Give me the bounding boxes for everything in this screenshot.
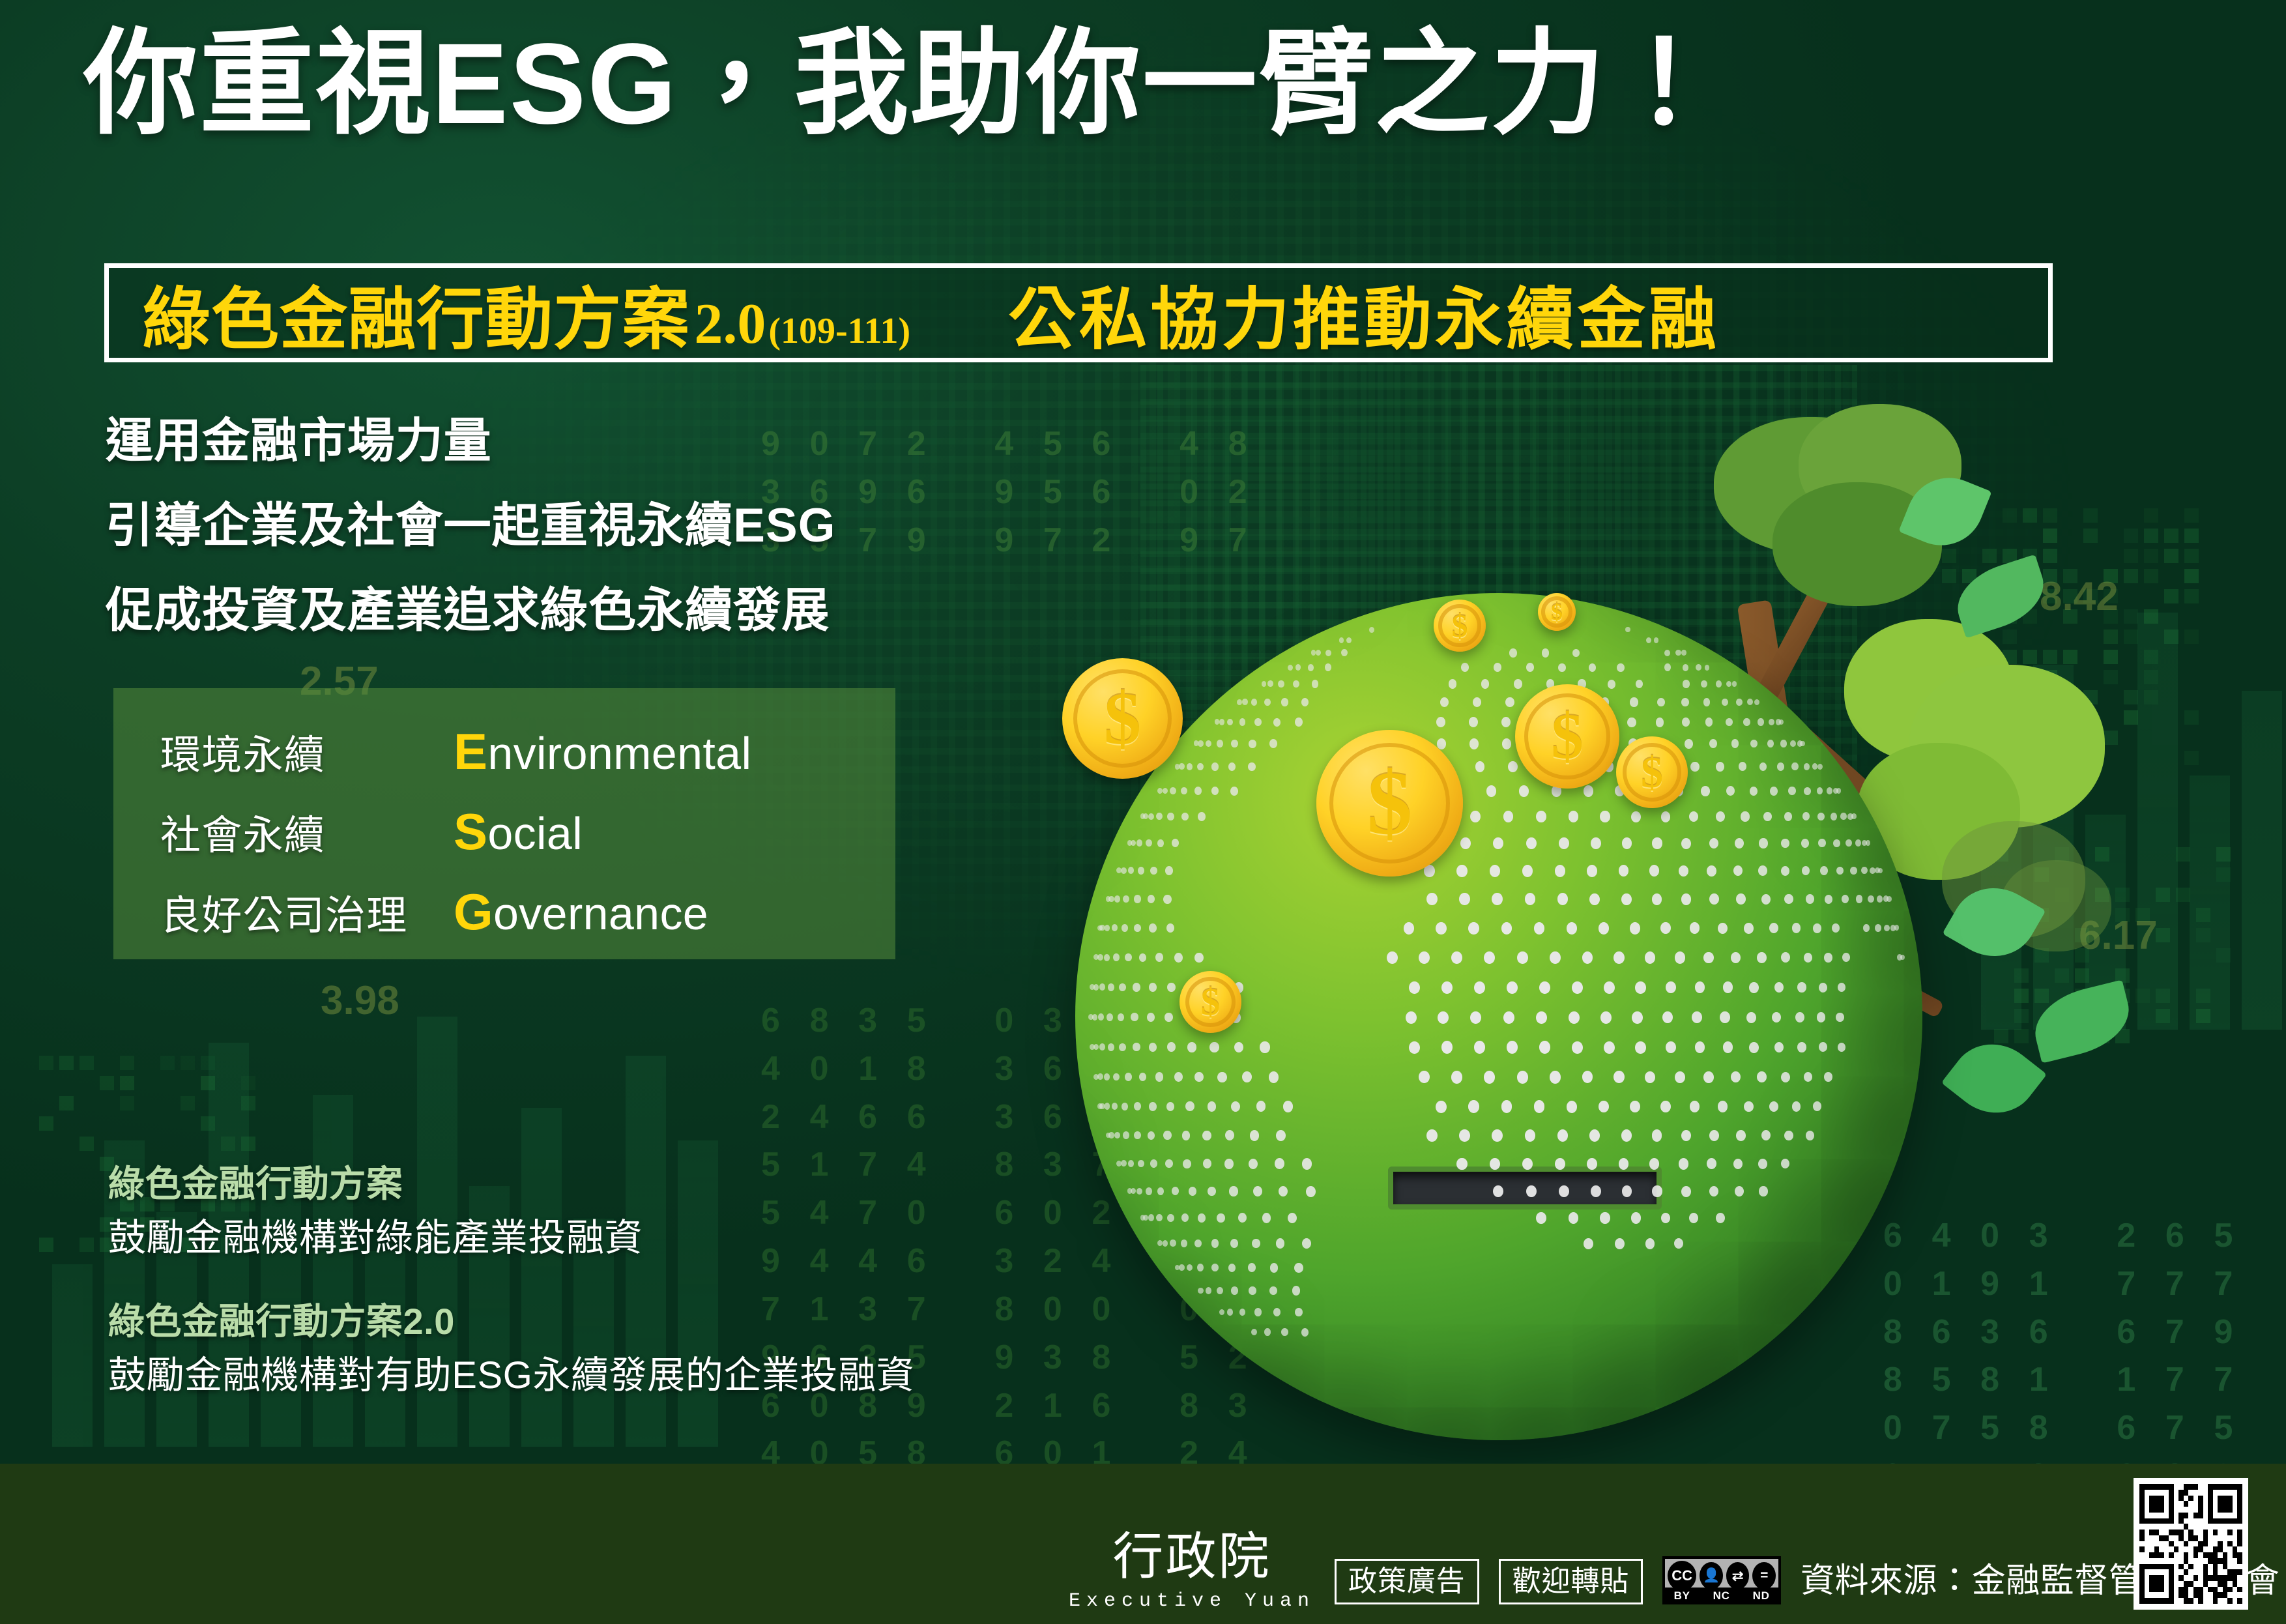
globe-dot bbox=[1341, 649, 1348, 656]
qr-cell bbox=[2237, 1507, 2242, 1513]
qr-cell bbox=[2145, 1575, 2150, 1581]
globe-dot bbox=[1661, 1213, 1671, 1224]
qr-cell bbox=[2164, 1513, 2169, 1518]
qr-cell bbox=[2164, 1530, 2169, 1535]
qr-cell bbox=[2233, 1513, 2238, 1518]
qr-cell bbox=[2208, 1552, 2213, 1558]
qr-cell bbox=[2139, 1581, 2145, 1587]
globe-dot bbox=[1387, 951, 1398, 964]
tree-leaf bbox=[1948, 555, 2053, 639]
globe-dot bbox=[1149, 923, 1157, 933]
qr-cell bbox=[2188, 1581, 2193, 1587]
qr-cell bbox=[2208, 1530, 2213, 1535]
qr-cell bbox=[2223, 1507, 2228, 1513]
coin-dollar-symbol: $ bbox=[1551, 598, 1563, 626]
globe-dot bbox=[1170, 787, 1176, 794]
globe-dot bbox=[1759, 1186, 1767, 1196]
esg-definition-panel: 環境永續 Environmental 社會永續 Social 良好公司治理 Go… bbox=[113, 688, 895, 959]
globe-dot bbox=[1097, 1073, 1103, 1080]
qr-cell bbox=[2174, 1513, 2179, 1518]
globe-dot bbox=[1107, 1013, 1113, 1021]
globe-dot bbox=[1262, 1213, 1271, 1223]
qr-cell bbox=[2233, 1581, 2238, 1587]
globe-dot bbox=[1121, 1103, 1128, 1110]
globe-dot bbox=[1707, 1158, 1716, 1169]
qr-cell bbox=[2227, 1592, 2233, 1598]
qr-cell bbox=[2145, 1507, 2150, 1513]
qr-cell bbox=[2208, 1598, 2213, 1604]
globe-dot bbox=[1441, 1041, 1453, 1053]
subtitle-banner: 綠色金融行動方案 2.0 (109-111) 公私協力推動永續金融 bbox=[104, 263, 2053, 362]
qr-cell bbox=[2213, 1575, 2218, 1581]
globe-dot bbox=[1772, 1012, 1781, 1022]
background-square bbox=[2184, 751, 2199, 765]
cc-nc-icon: ⇄ bbox=[1726, 1562, 1750, 1589]
globe-dot bbox=[1237, 699, 1242, 705]
qr-cell bbox=[2237, 1558, 2242, 1564]
agency-name-en: Executive Yuan bbox=[1069, 1590, 1315, 1612]
globe-dot bbox=[1302, 1238, 1311, 1249]
background-number-398: 3.98 bbox=[321, 978, 399, 1024]
qr-cell bbox=[2149, 1558, 2154, 1564]
qr-cell bbox=[2178, 1501, 2184, 1507]
globe-dot bbox=[1276, 1130, 1286, 1141]
qr-cell bbox=[2174, 1558, 2179, 1564]
globe-dot bbox=[1234, 1042, 1244, 1053]
background-square bbox=[2184, 569, 2199, 583]
qr-code-matrix bbox=[2139, 1484, 2242, 1604]
qr-cell bbox=[2223, 1546, 2228, 1552]
qr-cell bbox=[2233, 1592, 2238, 1598]
globe-dot bbox=[1273, 1308, 1280, 1316]
globe-dot bbox=[1262, 681, 1267, 687]
qr-cell bbox=[2208, 1564, 2213, 1570]
cc-label-by: BY bbox=[1674, 1589, 1690, 1602]
qr-cell bbox=[2193, 1564, 2199, 1570]
globe-dot bbox=[1254, 1308, 1262, 1316]
globe-dot bbox=[1683, 680, 1690, 688]
qr-cell bbox=[2139, 1598, 2145, 1604]
globe-dot bbox=[1108, 896, 1114, 903]
qr-cell bbox=[2154, 1496, 2160, 1501]
globe-dot bbox=[1198, 1288, 1203, 1294]
globe-dot bbox=[1649, 1158, 1660, 1170]
qr-cell bbox=[2145, 1501, 2150, 1507]
qr-cell bbox=[2159, 1558, 2164, 1564]
qr-cell bbox=[2237, 1546, 2242, 1552]
globe-dot bbox=[1148, 1214, 1154, 1221]
qr-cell bbox=[2198, 1569, 2203, 1575]
qr-cell bbox=[2198, 1484, 2203, 1490]
globe-dot bbox=[1112, 1103, 1118, 1110]
globe-dot bbox=[1674, 1238, 1683, 1249]
qr-cell bbox=[2208, 1518, 2213, 1524]
background-square bbox=[80, 1137, 94, 1151]
executive-yuan-logo: 行政院 Executive Yuan bbox=[1069, 1531, 1315, 1616]
globe-dot bbox=[1492, 893, 1503, 905]
qr-cell bbox=[2159, 1484, 2164, 1490]
globe-dot bbox=[1690, 1101, 1700, 1112]
background-square bbox=[2124, 529, 2138, 543]
qr-cell bbox=[2145, 1581, 2150, 1587]
globe-dot bbox=[1481, 679, 1490, 689]
globe-dot bbox=[1254, 718, 1262, 726]
background-square bbox=[2184, 549, 2199, 563]
qr-cell bbox=[2227, 1564, 2233, 1570]
globe-dot bbox=[1631, 811, 1641, 822]
globe-dot bbox=[1436, 1101, 1447, 1113]
globe-dot bbox=[1211, 1239, 1219, 1247]
globe-dot bbox=[1664, 663, 1671, 671]
globe-dot bbox=[1632, 1011, 1642, 1024]
globe-dot bbox=[1449, 679, 1457, 689]
globe-dot bbox=[1325, 650, 1331, 656]
qr-code[interactable] bbox=[2134, 1478, 2248, 1610]
qr-cell bbox=[2139, 1490, 2145, 1496]
globe-dot bbox=[1558, 663, 1566, 673]
globe-dot bbox=[1134, 924, 1141, 933]
qr-cell bbox=[2178, 1513, 2184, 1518]
qr-cell bbox=[2159, 1575, 2164, 1581]
qr-cell bbox=[2178, 1558, 2184, 1564]
qr-cell bbox=[2184, 1524, 2189, 1530]
globe-dot bbox=[1802, 812, 1810, 820]
qr-cell bbox=[2193, 1484, 2199, 1490]
globe-dot bbox=[1534, 1100, 1545, 1112]
qr-cell bbox=[2237, 1484, 2242, 1490]
globe-dot bbox=[1404, 922, 1415, 935]
background-square bbox=[120, 1056, 134, 1070]
globe-dot bbox=[1456, 1158, 1467, 1170]
globe-dot bbox=[1133, 1043, 1140, 1051]
globe-dot bbox=[1866, 840, 1871, 846]
qr-cell bbox=[2218, 1507, 2223, 1513]
globe-dot bbox=[1230, 787, 1238, 796]
globe-dot bbox=[1652, 837, 1662, 848]
cc-by-icon: 👤 bbox=[1700, 1562, 1723, 1589]
globe-dot bbox=[1267, 680, 1273, 687]
qr-cell bbox=[2164, 1518, 2169, 1524]
qr-cell bbox=[2193, 1541, 2199, 1547]
globe-dot bbox=[1185, 1101, 1194, 1111]
globe-dot bbox=[1456, 865, 1467, 877]
globe-dot bbox=[1733, 1159, 1743, 1169]
globe-dot bbox=[1675, 951, 1685, 963]
background-square bbox=[2156, 928, 2170, 942]
globe-dot bbox=[1615, 1238, 1625, 1249]
qr-cell bbox=[2218, 1484, 2223, 1490]
globe-dot bbox=[1851, 813, 1857, 819]
cc-icon-row: CC 👤 ⇄ = bbox=[1668, 1561, 1776, 1590]
globe-dot bbox=[1252, 1239, 1260, 1249]
qr-cell bbox=[2237, 1535, 2242, 1541]
qr-cell bbox=[2188, 1598, 2193, 1604]
globe-dot bbox=[1281, 698, 1288, 706]
qr-cell bbox=[2159, 1518, 2164, 1524]
globe-dot bbox=[1646, 637, 1651, 643]
globe-dot bbox=[1194, 1240, 1202, 1248]
globe-dot bbox=[1419, 1071, 1430, 1083]
globe-dot bbox=[1166, 923, 1175, 933]
background-square bbox=[80, 1056, 94, 1070]
qr-cell bbox=[2174, 1496, 2179, 1501]
globe-dot bbox=[1138, 867, 1144, 875]
globe-dot bbox=[1501, 717, 1511, 727]
globe-dot bbox=[1121, 867, 1127, 874]
qr-cell bbox=[2233, 1484, 2238, 1490]
qr-cell bbox=[2193, 1581, 2199, 1587]
globe-dot bbox=[1804, 1072, 1812, 1082]
globe-dot bbox=[1788, 787, 1795, 795]
globe-dot bbox=[1652, 1129, 1662, 1141]
globe-dot bbox=[1539, 1041, 1550, 1053]
globe-dot bbox=[1878, 868, 1883, 873]
globe-dot bbox=[1119, 983, 1126, 991]
background-square bbox=[2184, 710, 2199, 725]
globe-dot bbox=[1293, 680, 1299, 688]
globe-dot bbox=[1419, 951, 1430, 964]
qr-cell bbox=[2149, 1501, 2154, 1507]
qr-cell bbox=[2154, 1535, 2160, 1541]
globe-dot bbox=[1469, 717, 1478, 727]
qr-cell bbox=[2233, 1530, 2238, 1535]
globe-dot bbox=[1369, 627, 1374, 633]
background-square bbox=[59, 1056, 74, 1070]
qr-cell bbox=[2178, 1530, 2184, 1535]
qr-cell bbox=[2149, 1496, 2154, 1501]
globe-dot bbox=[1470, 1011, 1481, 1024]
globe-dot bbox=[1761, 894, 1771, 905]
qr-cell bbox=[2208, 1569, 2213, 1575]
globe-dot bbox=[1817, 813, 1825, 820]
globe-dot bbox=[1861, 867, 1868, 874]
qr-cell bbox=[2203, 1513, 2208, 1518]
tree-leaf bbox=[2027, 979, 2137, 1063]
globe-dot bbox=[1825, 895, 1832, 904]
qr-cell bbox=[2188, 1569, 2193, 1575]
globe-dot bbox=[1503, 1011, 1514, 1024]
globe-dot bbox=[1149, 1102, 1157, 1111]
qr-cell bbox=[2208, 1541, 2213, 1547]
globe-dot bbox=[1608, 680, 1615, 689]
globe-dot bbox=[1817, 1012, 1825, 1022]
globe-dot bbox=[1739, 762, 1746, 771]
globe-dot bbox=[1503, 811, 1514, 822]
qr-cell bbox=[2208, 1501, 2213, 1507]
globe-dot bbox=[1148, 895, 1155, 903]
qr-cell bbox=[2223, 1496, 2228, 1501]
globe-dot bbox=[1451, 951, 1462, 964]
globe-dot bbox=[1744, 1101, 1754, 1112]
globe-dot bbox=[1813, 923, 1821, 933]
globe-dot bbox=[1295, 718, 1303, 727]
globe-dot bbox=[1792, 923, 1801, 933]
globe-dot bbox=[1536, 811, 1546, 822]
globe-dot bbox=[1806, 1131, 1814, 1140]
qr-cell bbox=[2237, 1587, 2242, 1593]
qr-cell bbox=[2154, 1587, 2160, 1593]
globe-dot bbox=[1525, 893, 1536, 905]
globe-dot bbox=[1165, 1013, 1173, 1022]
qr-cell bbox=[2237, 1564, 2242, 1570]
globe-dot bbox=[1750, 740, 1758, 748]
qr-cell bbox=[2139, 1496, 2145, 1501]
globe-dot bbox=[1703, 1071, 1713, 1083]
globe-dot bbox=[1555, 865, 1565, 877]
globe-dot bbox=[1774, 1042, 1784, 1052]
esg-capital-s: S bbox=[454, 803, 487, 860]
qr-cell bbox=[2227, 1546, 2233, 1552]
globe-dot bbox=[1584, 785, 1593, 796]
qr-cell bbox=[2139, 1518, 2145, 1524]
globe-dot bbox=[1202, 1131, 1211, 1140]
globe-dot bbox=[1842, 895, 1849, 903]
globe-dot bbox=[1569, 1212, 1579, 1224]
globe-dot bbox=[1709, 893, 1719, 905]
qr-cell bbox=[2213, 1484, 2218, 1490]
qr-cell bbox=[2178, 1541, 2184, 1547]
qr-cell bbox=[2174, 1587, 2179, 1593]
qr-cell bbox=[2145, 1587, 2150, 1593]
globe-dot bbox=[1093, 984, 1099, 991]
qr-cell bbox=[2193, 1587, 2199, 1593]
globe-dot bbox=[1170, 1240, 1176, 1247]
globe-dot bbox=[1228, 762, 1236, 771]
qr-cell bbox=[2159, 1535, 2164, 1541]
qr-cell bbox=[2145, 1546, 2150, 1552]
background-square bbox=[120, 1076, 134, 1090]
background-square bbox=[2216, 847, 2231, 862]
background-square bbox=[2144, 609, 2158, 624]
qr-cell bbox=[2169, 1587, 2174, 1593]
globe-illustration: $$$$$$$ bbox=[1004, 404, 2124, 1473]
qr-cell bbox=[2174, 1598, 2179, 1604]
qr-cell bbox=[2149, 1598, 2154, 1604]
qr-cell bbox=[2193, 1535, 2199, 1541]
qr-cell bbox=[2233, 1490, 2238, 1496]
globe-dot bbox=[1507, 1041, 1518, 1054]
globe-dot bbox=[1278, 680, 1284, 688]
globe-dot bbox=[1567, 922, 1578, 935]
qr-cell bbox=[2184, 1490, 2189, 1496]
qr-cell bbox=[2145, 1490, 2150, 1496]
qr-cell bbox=[2198, 1598, 2203, 1604]
globe-dot bbox=[1705, 718, 1713, 726]
globe-dot bbox=[1572, 1041, 1583, 1054]
globe-dot bbox=[1451, 1071, 1462, 1083]
qr-cell bbox=[2188, 1484, 2193, 1490]
qr-cell bbox=[2188, 1587, 2193, 1593]
globe-dot bbox=[1781, 1159, 1789, 1168]
globe-dot bbox=[1230, 1239, 1238, 1248]
globe-dot bbox=[1187, 763, 1193, 770]
qr-cell bbox=[2169, 1541, 2174, 1547]
globe-dot bbox=[1679, 1158, 1688, 1169]
globe-dot bbox=[1507, 981, 1518, 994]
globe-dot bbox=[1131, 840, 1136, 847]
globe-dot bbox=[1800, 741, 1804, 746]
background-bar bbox=[52, 1264, 93, 1447]
globe-dot bbox=[1231, 740, 1238, 747]
globe-dot bbox=[1473, 697, 1481, 707]
globe-dot bbox=[1426, 893, 1437, 905]
qr-cell bbox=[2139, 1546, 2145, 1552]
globe-dot bbox=[1099, 1043, 1105, 1051]
qr-cell bbox=[2169, 1518, 2174, 1524]
globe-dot bbox=[1490, 1158, 1500, 1170]
globe-dot bbox=[1784, 812, 1792, 821]
qr-cell bbox=[2227, 1558, 2233, 1564]
globe-dot bbox=[1156, 813, 1163, 820]
globe-dot bbox=[1709, 1186, 1718, 1197]
qr-cell bbox=[2193, 1490, 2199, 1496]
globe-dot bbox=[1735, 1186, 1744, 1196]
qr-cell bbox=[2198, 1564, 2203, 1570]
qr-cell bbox=[2188, 1507, 2193, 1513]
globe-dot bbox=[1134, 1102, 1141, 1110]
qr-cell bbox=[2237, 1496, 2242, 1501]
background-square bbox=[59, 1096, 74, 1110]
coin-dollar-symbol: $ bbox=[1104, 676, 1141, 762]
qr-cell bbox=[2213, 1501, 2218, 1507]
qr-cell bbox=[2159, 1490, 2164, 1496]
qr-cell bbox=[2227, 1535, 2233, 1541]
qr-cell bbox=[2169, 1552, 2174, 1558]
globe-dot bbox=[1736, 699, 1742, 706]
poster-canvas: 8.42 6.17 2.57 3.98 9 0 7 2 4 5 6 4 8 3 … bbox=[0, 0, 2286, 1624]
globe-dot bbox=[1884, 925, 1890, 932]
globe-dot bbox=[1582, 951, 1593, 964]
qr-cell bbox=[2193, 1507, 2199, 1513]
globe-dot bbox=[1622, 837, 1632, 849]
qr-cell bbox=[2178, 1484, 2184, 1490]
page-title: 你重視ESG，我助你一臂之力！ bbox=[83, 23, 2221, 145]
globe-dot bbox=[1718, 1101, 1728, 1112]
globe-dot bbox=[1695, 981, 1705, 993]
globe-dot bbox=[1621, 1129, 1632, 1141]
background-square bbox=[2176, 888, 2190, 902]
esg-label-governance-cn: 良好公司治理 bbox=[160, 882, 454, 941]
qr-cell bbox=[2198, 1546, 2203, 1552]
globe-dot bbox=[1792, 1101, 1801, 1112]
globe-dot bbox=[1475, 761, 1485, 772]
qr-cell bbox=[2154, 1598, 2160, 1604]
globe-dot bbox=[1774, 982, 1784, 993]
qr-cell bbox=[2139, 1587, 2145, 1593]
background-square bbox=[2216, 867, 2231, 882]
globe-dot bbox=[1657, 698, 1665, 707]
qr-cell bbox=[2237, 1490, 2242, 1496]
qr-cell bbox=[2145, 1569, 2150, 1575]
qr-cell bbox=[2208, 1496, 2213, 1501]
qr-cell bbox=[2164, 1501, 2169, 1507]
qr-cell bbox=[2198, 1518, 2203, 1524]
globe-dot bbox=[1781, 839, 1789, 848]
background-square bbox=[2124, 549, 2138, 563]
qr-cell bbox=[2193, 1524, 2199, 1530]
globe-dot bbox=[1733, 865, 1743, 876]
qr-cell bbox=[2178, 1598, 2184, 1604]
globe-dot bbox=[1726, 718, 1733, 727]
globe-dot bbox=[1292, 1286, 1301, 1295]
globe-dot bbox=[1791, 762, 1798, 770]
qr-cell bbox=[2233, 1518, 2238, 1524]
globe-dot bbox=[1143, 813, 1148, 819]
globe-dot bbox=[1817, 764, 1823, 770]
globe-dot bbox=[1604, 981, 1615, 994]
globe-dot bbox=[1819, 1042, 1827, 1052]
globe-dot bbox=[1125, 1073, 1132, 1081]
